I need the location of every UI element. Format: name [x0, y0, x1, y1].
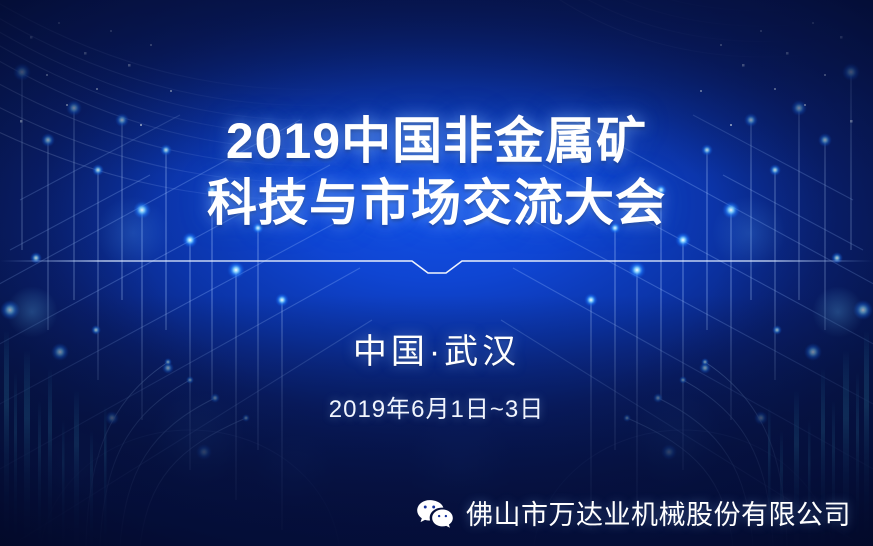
- v-notch-divider-icon: [0, 252, 873, 278]
- title-line-1: 2019中国非金属矿: [207, 116, 666, 166]
- poster-title: 2019中国非金属矿 科技与市场交流大会: [207, 116, 666, 228]
- divider: [0, 252, 873, 278]
- city-label: 中国·武汉: [353, 324, 520, 373]
- title-line-2: 科技与市场交流大会: [207, 178, 666, 228]
- poster-content: 2019中国非金属矿 科技与市场交流大会 中国·武汉 2019年: [0, 0, 873, 546]
- conference-poster: 2019中国非金属矿 科技与市场交流大会 中国·武汉 2019年: [0, 0, 873, 546]
- dates-label: 2019年6月1日~3日: [329, 389, 544, 424]
